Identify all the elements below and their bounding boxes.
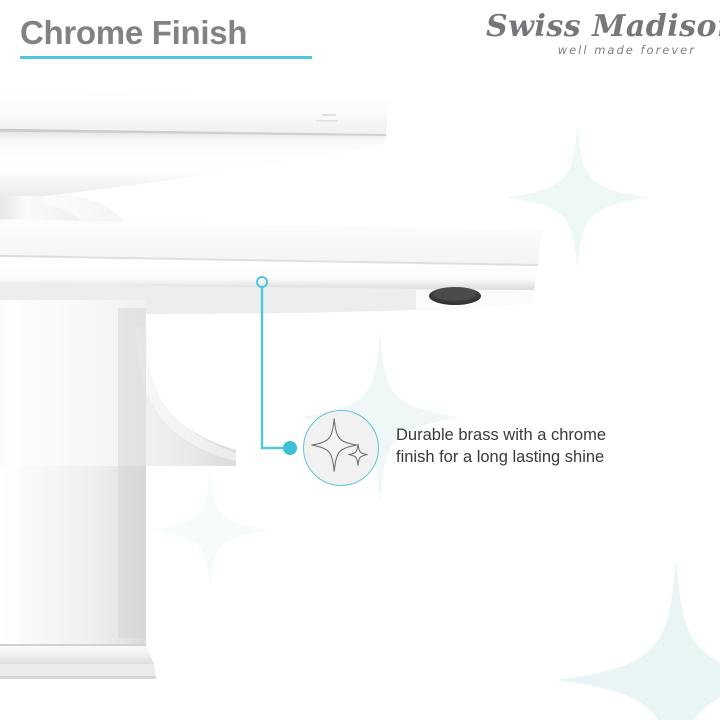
product-image-faucet [0,78,546,698]
background-sparkle-large-right [556,560,720,720]
brand-logo: Swiss Madison® well made forever [486,12,702,68]
callout-description-line-1: Durable brass with a chrome [396,424,646,446]
sparkle-shine-icon [304,411,378,485]
page-title: Chrome Finish [20,14,247,52]
callout-badge [303,410,379,486]
callout-description-line-2: finish for a long lasting shine [396,446,646,468]
brand-tagline: well made forever [486,43,702,57]
title-underline-rule [20,56,312,59]
callout-description: Durable brass with a chrome finish for a… [396,424,646,468]
brand-wordmark: Swiss Madison® [486,12,702,42]
product-feature-card: Chrome Finish Swiss Madison® well made f… [0,0,720,720]
brand-wordmark-text: Swiss Madison [486,9,720,44]
